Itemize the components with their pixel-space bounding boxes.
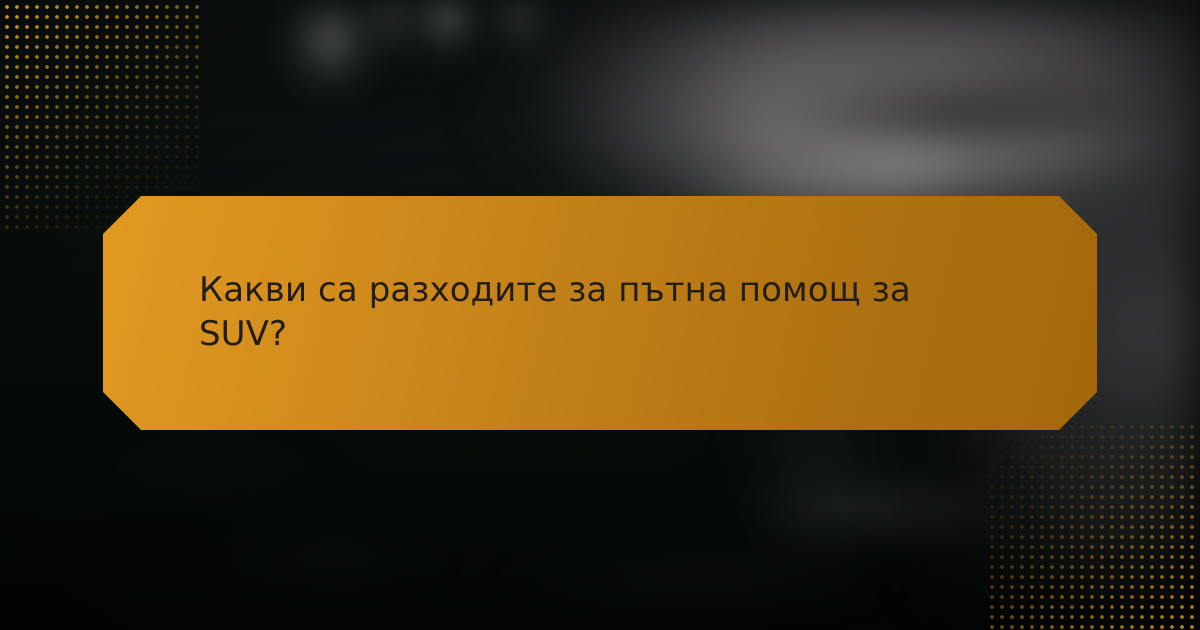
headline-banner: Какви са разходите за пътна помощ за SUV… [103,196,1097,430]
halftone-dots-bottom-right [985,420,1200,630]
social-card: Какви са разходите за пътна помощ за SUV… [0,0,1200,630]
halftone-dots-top-left [0,0,200,230]
headline-text: Какви са разходите за пътна помощ за SUV… [199,269,1001,356]
